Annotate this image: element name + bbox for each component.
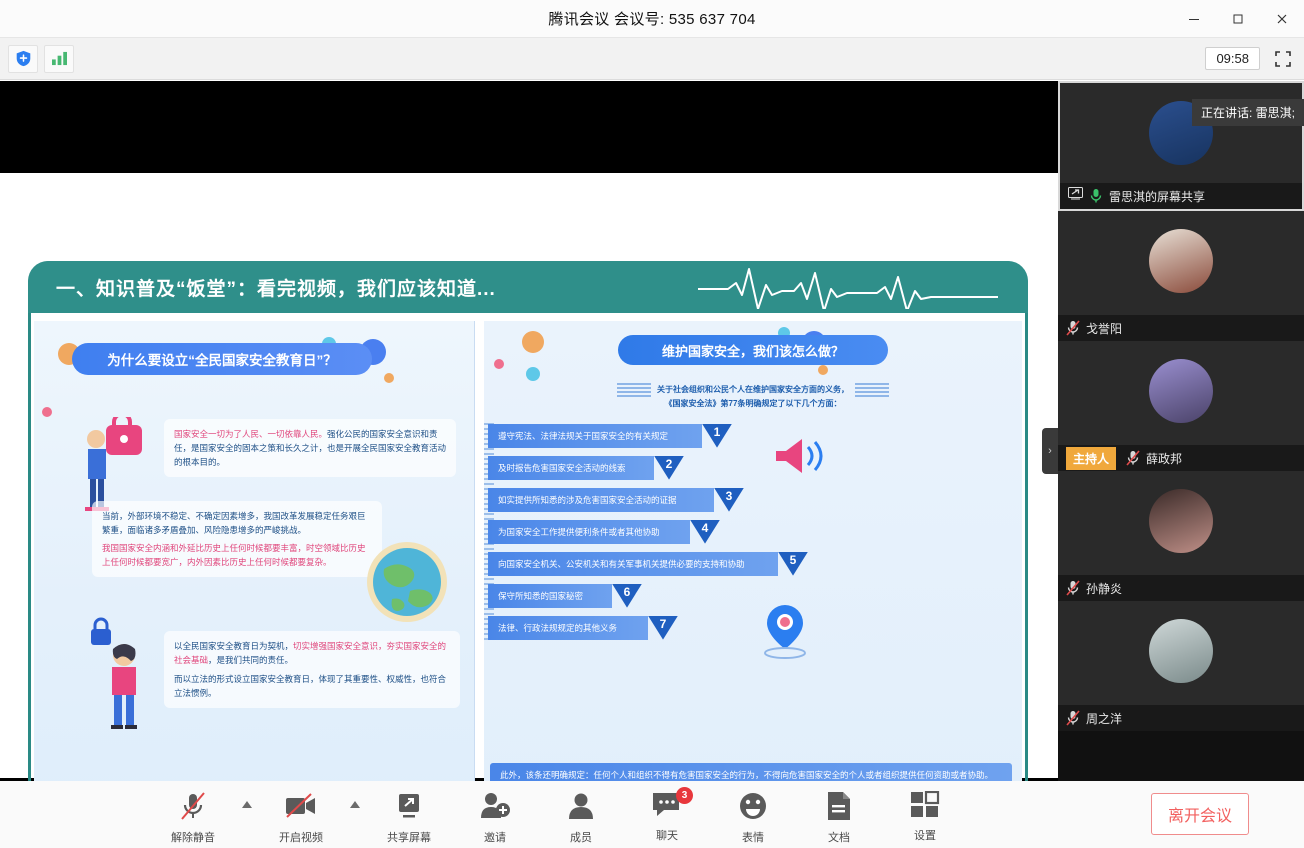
toolbar-invite-user[interactable]: 邀请 [452,785,538,845]
avatar [1149,359,1213,423]
mic-on-icon [1089,188,1103,204]
obligation-item-number: 6 [612,584,642,608]
emoji-icon [738,791,768,826]
obligation-item-text: 向国家安全机关、公安机关和有关军事机关提供必要的支持和协助 [488,552,778,576]
right-panel-heading: 维护国家安全，我们该怎么做？ [618,335,888,365]
obligation-item: 如实提供所知悉的涉及危害国家安全活动的证据3 [488,487,1022,513]
stripe-decor [855,383,889,397]
obligation-item: 遵守宪法、法律法规关于国家安全的有关规定1 [488,423,1022,449]
leave-meeting-button[interactable]: 离开会议 [1151,793,1249,835]
participant-name-row: 周之洋 [1058,705,1304,731]
participants-icon [566,791,596,826]
participant-name-row: 孙静炎 [1058,575,1304,601]
toolbar-label: 聊天 [656,827,678,843]
toolbar-label: 文档 [828,829,850,845]
person-illustration [94,639,156,729]
decor-dot [384,373,394,383]
obligation-item: 向国家安全机关、公安机关和有关军事机关提供必要的支持和协助5 [488,551,1022,577]
left-text-2-body: 当前，外部环境不稳定、不确定因素增多，我国改革发展稳定任务艰巨繁重，面临诸多矛盾… [102,511,366,535]
decor-dot [526,367,540,381]
slide-left-panel: 为什么要设立“全民国家安全教育日”？ 国家安全一切为了人民、一切依靠人民。强化公… [34,321,474,781]
camera-off-icon [284,791,318,826]
megaphone-icon [772,433,828,479]
toolbar-screen-share[interactable]: 共享屏幕 [366,785,452,845]
decor-dot [42,407,52,417]
shared-screen-stage[interactable]: 一、知识普及“饭堂”：看完视频，我们应该知道... 为什么要设立“全民国家安全教… [0,81,1058,781]
obligation-item-text: 如实提供所知悉的涉及危害国家安全活动的证据 [488,488,714,512]
participants-sidebar[interactable]: 雷思淇的屏幕共享戈誉阳主持人薛政邦孙静炎周之洋 正在讲话: 雷思淇; [1058,81,1304,781]
participant-tile[interactable]: 主持人薛政邦 [1058,341,1304,471]
participant-name: 周之洋 [1086,710,1122,727]
person-with-lock-illustration [80,417,158,513]
panel-divider [474,321,484,781]
toolbar-label: 设置 [914,827,936,843]
document-icon [826,791,852,826]
toolbar-dropdown-caret[interactable] [236,785,258,808]
signal-bars-icon[interactable] [44,45,74,73]
participant-name-row: 戈誉阳 [1058,315,1304,341]
left-text-3-body3: 而以立法的形式设立国家安全教育日，体现了其重要性、权威性，也符合立法惯例。 [174,674,446,698]
toolbar-emoji[interactable]: 表情 [710,785,796,845]
toolbar-label: 表情 [742,829,764,845]
participant-name: 戈誉阳 [1086,320,1122,337]
right-heading-text: 维护国家安全，我们该怎么做？ [662,341,844,360]
toolbar-label: 开启视频 [279,829,323,845]
slide-body: 为什么要设立“全民国家安全教育日”？ 国家安全一切为了人民、一切依靠人民。强化公… [34,321,1022,781]
invite-user-icon [479,791,511,826]
right-subtitle: 关于社会组织和公民个人在维护国家安全方面的义务， 《国家安全法》第77条明确规定… [588,383,918,411]
toolbar-label: 共享屏幕 [387,829,431,845]
mic-muted-icon [178,791,208,826]
obligation-item: 为国家安全工作提供便利条件或者其他协助4 [488,519,1022,545]
obligation-item-number: 5 [778,552,808,576]
heartbeat-line-icon [698,267,998,309]
meeting-controls-bar: 解除静音开启视频共享屏幕邀请成员3聊天表情文档设置 离开会议 [0,781,1304,848]
obligation-item: 及时报告危害国家安全活动的线索2 [488,455,1022,481]
layout-icon [910,791,940,824]
toolbar-chat[interactable]: 3聊天 [624,785,710,843]
toolbar-label: 成员 [570,829,592,845]
participant-name-row: 主持人薛政邦 [1058,445,1304,471]
participant-tile[interactable]: 周之洋 [1058,601,1304,731]
left-heading-text: 为什么要设立“全民国家安全教育日”？ [107,349,337,369]
left-text-1-highlight: 国家安全一切为了人民、一切依靠人民。 [174,429,327,439]
toolbar-camera-off[interactable]: 开启视频 [258,785,344,845]
toolbar-document[interactable]: 文档 [796,785,882,845]
toolbar-layout[interactable]: 设置 [882,785,968,843]
obligation-item-number: 4 [690,520,720,544]
toolbar-dropdown-caret[interactable] [344,785,366,808]
participant-name: 雷思淇的屏幕共享 [1109,188,1205,205]
participant-tile[interactable]: 孙静炎 [1058,471,1304,601]
right-panel-footer: 此外，该条还明确规定：任何个人和组织不得有危害国家安全的行为，不得向危害国家安全… [490,763,1012,781]
window-title: 腾讯会议 会议号: 535 637 704 [0,8,1304,29]
meeting-sub-toolbar: 09:58 [0,38,1304,80]
left-text-3-body: 以全民国家安全教育日为契机， [174,641,293,651]
toolbar-mic-muted[interactable]: 解除静音 [150,785,236,845]
decor-dot [494,359,504,369]
stripe-decor [617,383,651,397]
participant-name: 孙静炎 [1086,580,1122,597]
location-pin-icon [752,601,818,663]
right-subtitle-line-2: 《国家安全法》第77条明确规定了以下几个方面： [588,397,918,411]
obligation-item-text: 遵守宪法、法律法规关于国家安全的有关规定 [488,424,702,448]
speaking-tooltip: 正在讲话: 雷思淇; [1192,99,1304,126]
obligation-item-text: 为国家安全工作提供便利条件或者其他协助 [488,520,690,544]
toolbar-label: 邀请 [484,829,506,845]
obligation-item-number: 2 [654,456,684,480]
fullscreen-icon[interactable] [1270,46,1296,72]
participant-name: 薛政邦 [1146,450,1182,467]
sidebar-collapse-handle[interactable]: › [1042,428,1058,474]
shield-icon[interactable] [8,45,38,73]
obligation-item-text: 保守所知悉的国家秘密 [488,584,612,608]
slide-header: 一、知识普及“饭堂”：看完视频，我们应该知道... [28,261,1028,313]
screen-share-icon [394,791,424,826]
right-subtitle-line-1: 关于社会组织和公民个人在维护国家安全方面的义务， [657,383,849,397]
left-text-2-highlight: 我国国家安全内涵和外延比历史上任何时候都要丰富，时空领域比历史上任何时候都要宽广… [102,543,366,567]
sub-toolbar-right: 09:58 [1205,46,1296,72]
avatar [1149,489,1213,553]
toolbar-label: 解除静音 [171,829,215,845]
toolbar-participants[interactable]: 成员 [538,785,624,845]
mic-muted-icon [1066,580,1080,596]
left-text-3-body2: ，是我们共同的责任。 [208,655,293,665]
mic-muted-icon [1126,450,1140,466]
obligation-item-number: 1 [702,424,732,448]
meeting-tools: 解除静音开启视频共享屏幕邀请成员3聊天表情文档设置 [150,785,968,845]
presentation-slide: 一、知识普及“饭堂”：看完视频，我们应该知道... 为什么要设立“全民国家安全教… [0,173,1058,778]
obligation-item-text: 法律、行政法规规定的其他义务 [488,616,648,640]
unread-badge: 3 [676,787,693,804]
slide-right-panel: 维护国家安全，我们该怎么做？ 关于社会组织和公民个人在维护国家安全方面的义务， … [484,321,1022,781]
obligation-item-number: 7 [648,616,678,640]
mic-muted-icon [1066,710,1080,726]
avatar [1149,619,1213,683]
left-panel-heading: 为什么要设立“全民国家安全教育日”？ [72,343,372,375]
obligation-item-text: 及时报告危害国家安全活动的线索 [488,456,654,480]
host-badge: 主持人 [1066,447,1116,470]
participant-name-row: 雷思淇的屏幕共享 [1060,183,1302,209]
participant-tile[interactable]: 戈誉阳 [1058,211,1304,341]
slide-title: 一、知识普及“饭堂”：看完视频，我们应该知道... [56,274,496,301]
globe-illustration [364,539,450,625]
left-text-block-2: 当前，外部环境不稳定、不确定因素增多，我国改革发展稳定任务艰巨繁重，面临诸多矛盾… [92,501,382,577]
window-title-bar: 腾讯会议 会议号: 535 637 704 [0,0,1304,38]
avatar [1149,229,1213,293]
decor-dot [818,365,828,375]
decor-dot [522,331,544,353]
mic-muted-icon [1066,320,1080,336]
meeting-timer: 09:58 [1205,47,1260,70]
left-text-block-3: 以全民国家安全教育日为契机，切实增强国家安全意识，夯实国家安全的社会基础，是我们… [164,631,460,708]
left-text-block-1: 国家安全一切为了人民、一切依靠人民。强化公民的国家安全意识和责任，是国家安全的固… [164,419,456,477]
screen-share-icon [1068,187,1083,205]
obligation-item-number: 3 [714,488,744,512]
